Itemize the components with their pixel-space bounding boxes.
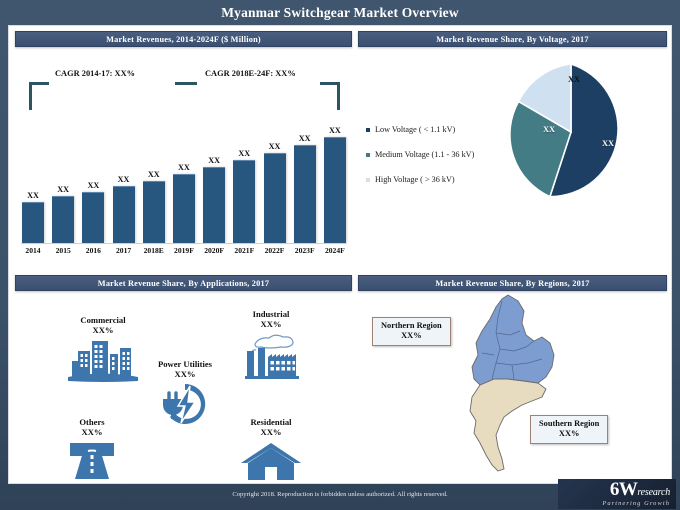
bar-rect [52, 196, 74, 243]
panel-market-revenues: Market Revenues, 2014-2024F ($ Million) … [15, 31, 352, 271]
bar-column: XX [112, 115, 136, 243]
bar-column: XX [293, 115, 317, 243]
bar-column: XX [323, 115, 347, 243]
application-value-industrial: XX% [211, 319, 331, 329]
cagr-bracket-right-stem [337, 82, 340, 110]
callout-label-southern: Southern Region [539, 419, 599, 429]
content-canvas: Market Revenues, 2014-2024F ($ Million) … [8, 25, 672, 484]
logo-6w-text: 6W [610, 479, 638, 500]
application-value-others: XX% [37, 427, 147, 437]
bar-column: XX [81, 115, 105, 243]
bar-value-label: XX [329, 126, 341, 135]
bar-value-label: XX [57, 185, 69, 194]
logo-tagline: Partnering Growth [602, 500, 670, 507]
bar-chart-x-axis-labels: 20142015201620172018E2019F2020F2021F2022… [21, 246, 347, 255]
legend-swatch-icon [366, 128, 370, 132]
bar-rect [82, 192, 104, 243]
callout-value-northern: XX% [381, 331, 442, 341]
cagr-bracket-left-top [29, 82, 49, 85]
cagr-bracket-middle-dash [175, 82, 197, 85]
panel-title-applications: Market Revenue Share, By Applications, 2… [98, 279, 269, 288]
bar-value-label: XX [299, 134, 311, 143]
bar-rect [264, 153, 286, 243]
page-title: Myanmar Switchgear Market Overview [221, 5, 459, 21]
company-logo: 6Wresearch Partnering Growth [558, 479, 676, 509]
cagr-bracket-left-stem [29, 82, 32, 110]
road-icon [63, 439, 121, 481]
application-value-power-utilities: XX% [125, 369, 245, 379]
legend-item: High Voltage ( > 36 kV) [366, 175, 474, 184]
cagr-label-forecast: CAGR 2018E-24F: XX% [205, 69, 296, 78]
bar-x-label: 2019F [172, 246, 196, 255]
bar-x-label: 2015 [51, 246, 75, 255]
bar-chart-bars: XXXXXXXXXXXXXXXXXXXXXX [21, 115, 347, 243]
panel-header-regions: Market Revenue Share, By Regions, 2017 [358, 275, 667, 291]
panel-body-applications: Commercial XX% [15, 291, 352, 478]
bar-value-label: XX [118, 175, 130, 184]
bar-column: XX [51, 115, 75, 243]
application-label-power-utilities: Power Utilities [125, 359, 245, 369]
bar-value-label: XX [148, 170, 160, 179]
pie-legend-voltage: Low Voltage ( < 1.1 kV)Medium Voltage (1… [366, 125, 474, 200]
panel-title-voltage: Market Revenue Share, By Voltage, 2017 [436, 35, 588, 44]
bar-rect [233, 160, 255, 243]
infographic-root: Myanmar Switchgear Market Overview Marke… [0, 0, 680, 510]
panel-revenue-share-applications: Market Revenue Share, By Applications, 2… [15, 275, 352, 480]
logo-wordmark: 6Wresearch [610, 480, 670, 499]
bar-column: XX [232, 115, 256, 243]
legend-swatch-icon [366, 178, 370, 182]
bar-x-label: 2018E [142, 246, 166, 255]
bar-rect [203, 167, 225, 243]
bar-value-label: XX [269, 142, 281, 151]
bar-column: XX [142, 115, 166, 243]
panel-title-market-revenues: Market Revenues, 2014-2024F ($ Million) [106, 35, 261, 44]
bar-column: XX [202, 115, 226, 243]
bar-x-label: 2017 [112, 246, 136, 255]
cagr-annotation: CAGR 2014-17: XX% CAGR 2018E-24F: XX% [15, 69, 352, 113]
panel-body-market-revenues: CAGR 2014-17: XX% CAGR 2018E-24F: XX% XX… [15, 47, 352, 269]
callout-label-northern: Northern Region [381, 321, 442, 331]
bar-rect [173, 174, 195, 243]
pie-value-medium-voltage: XX [543, 125, 555, 134]
bar-x-label: 2022F [263, 246, 287, 255]
application-value-commercial: XX% [43, 325, 163, 335]
bar-rect [22, 202, 44, 243]
application-item-residential: Residential XX% [211, 417, 331, 483]
bar-x-label: 2020F [202, 246, 226, 255]
pie-value-low-voltage: XX [602, 139, 614, 148]
legend-swatch-icon [366, 153, 370, 157]
bar-x-label: 2024F [323, 246, 347, 255]
panel-title-regions: Market Revenue Share, By Regions, 2017 [435, 279, 589, 288]
bar-value-label: XX [27, 191, 39, 200]
application-label-others: Others [37, 417, 147, 427]
application-label-commercial: Commercial [43, 315, 163, 325]
factory-icon [235, 331, 307, 381]
legend-item: Medium Voltage (1.1 - 36 kV) [366, 150, 474, 159]
bar-x-label: 2023F [293, 246, 317, 255]
panel-header-applications: Market Revenue Share, By Applications, 2… [15, 275, 352, 291]
power-plug-bolt-icon [154, 381, 216, 427]
pie-value-high-voltage: XX [568, 75, 580, 84]
panel-header-market-revenues: Market Revenues, 2014-2024F ($ Million) [15, 31, 352, 47]
application-label-residential: Residential [211, 417, 331, 427]
legend-label: High Voltage ( > 36 kV) [375, 175, 455, 184]
bar-value-label: XX [238, 149, 250, 158]
myanmar-map [446, 293, 576, 475]
application-value-residential: XX% [211, 427, 331, 437]
page-header: Myanmar Switchgear Market Overview [0, 0, 680, 26]
bar-value-label: XX [178, 163, 190, 172]
house-icon [238, 439, 304, 483]
bar-rect [143, 181, 165, 243]
bar-x-label: 2014 [21, 246, 45, 255]
bar-rect [294, 145, 316, 243]
bar-rect [324, 137, 346, 243]
panel-revenue-share-regions: Market Revenue Share, By Regions, 2017 [358, 275, 667, 480]
callout-southern-region: Southern Region XX% [530, 415, 608, 444]
bar-x-label: 2021F [232, 246, 256, 255]
bar-x-label: 2016 [81, 246, 105, 255]
panel-header-voltage: Market Revenue Share, By Voltage, 2017 [358, 31, 667, 47]
bar-rect [113, 186, 135, 243]
panel-body-regions: Northern Region XX% Southern Region XX% [358, 291, 667, 480]
logo-research-text: research [637, 487, 670, 498]
bar-column: XX [21, 115, 45, 243]
cagr-label-historic: CAGR 2014-17: XX% [55, 69, 135, 78]
bar-chart-axis-line [21, 243, 347, 244]
page-footer: Copyright 2018. Reproduction is forbidde… [0, 484, 680, 510]
legend-label: Medium Voltage (1.1 - 36 kV) [375, 150, 474, 159]
bar-value-label: XX [87, 181, 99, 190]
bar-column: XX [172, 115, 196, 243]
application-item-others: Others XX% [37, 417, 147, 481]
bar-value-label: XX [208, 156, 220, 165]
panel-revenue-share-voltage: Market Revenue Share, By Voltage, 2017 L… [358, 31, 667, 271]
application-label-industrial: Industrial [211, 309, 331, 319]
legend-label: Low Voltage ( < 1.1 kV) [375, 125, 455, 134]
panel-body-voltage: Low Voltage ( < 1.1 kV)Medium Voltage (1… [358, 47, 667, 271]
callout-value-southern: XX% [539, 429, 599, 439]
legend-item: Low Voltage ( < 1.1 kV) [366, 125, 474, 134]
bar-column: XX [263, 115, 287, 243]
callout-northern-region: Northern Region XX% [372, 317, 451, 346]
